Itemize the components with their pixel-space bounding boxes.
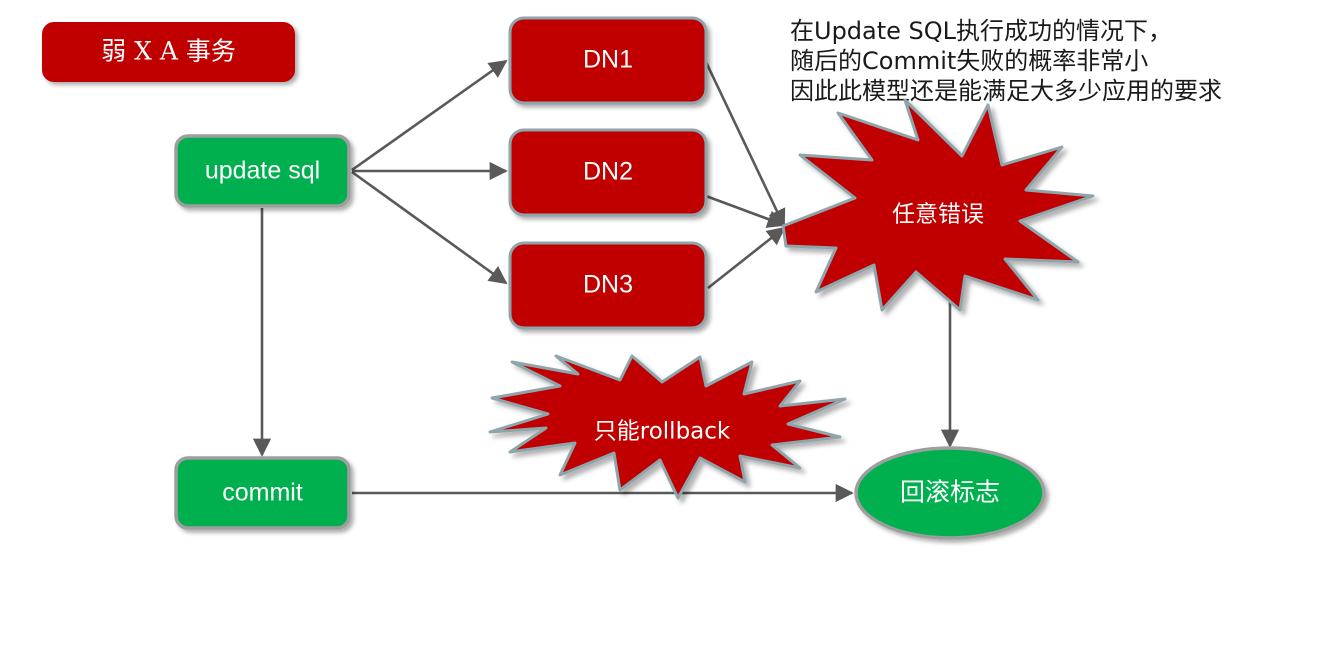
note-line-3: 因此此模型还是能满足大多少应用的要求 [790, 77, 1222, 105]
node-dn1[interactable]: DN1 [510, 18, 706, 103]
title-box: 弱 X A 事务 [42, 22, 295, 82]
note-line-1: 在Update SQL执行成功的情况下， [790, 17, 1172, 45]
diagram-canvas: 弱 X A 事务 在Update SQL执行成功的情况下， 随后的Commit失… [0, 0, 1330, 649]
edge-updatesql-to-dn1 [352, 61, 506, 170]
title-box-label: 弱 X A 事务 [101, 37, 236, 66]
node-dn1-label: DN1 [583, 46, 633, 74]
star-arbitrary-error-label: 任意错误 [892, 202, 984, 228]
node-dn2-label: DN2 [583, 158, 633, 186]
note-line-2: 随后的Commit失败的概率非常小 [790, 47, 1148, 75]
node-rollback-flag[interactable]: 回滚标志 [856, 448, 1044, 538]
node-rollback-flag-label: 回滚标志 [900, 479, 1000, 507]
edge-updatesql-to-dn3 [352, 172, 506, 283]
node-dn3[interactable]: DN3 [510, 243, 706, 328]
explanatory-note: 在Update SQL执行成功的情况下， 随后的Commit失败的概率非常小 因… [790, 17, 1222, 105]
star-arbitrary-error: 任意错误 [783, 100, 1093, 310]
star-only-rollback-label: 只能rollback [594, 419, 731, 445]
star-only-rollback: 只能rollback [490, 356, 845, 498]
node-dn2[interactable]: DN2 [510, 130, 706, 215]
weak-xa-transaction-diagram: 弱 X A 事务 在Update SQL执行成功的情况下， 随后的Commit失… [0, 0, 1330, 649]
node-dn3-label: DN3 [583, 271, 633, 299]
node-commit[interactable]: commit [176, 458, 349, 528]
node-commit-label: commit [222, 479, 303, 507]
node-update-sql-label: update sql [205, 157, 320, 185]
node-update-sql[interactable]: update sql [176, 136, 349, 206]
edge-dn3-to-arbitrary-error [708, 228, 784, 288]
